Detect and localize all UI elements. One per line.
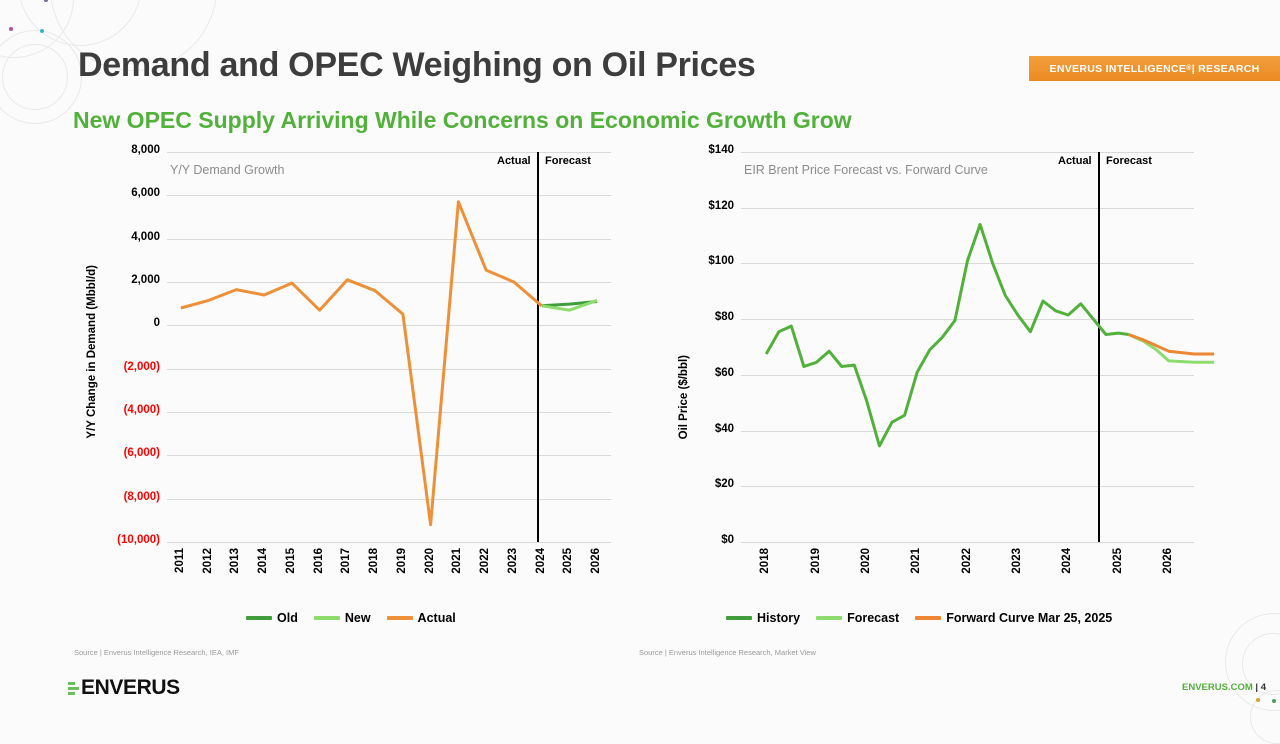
source-note-right: Source | Enverus Intelligence Research, … — [639, 648, 816, 657]
logo-mark-icon — [68, 682, 79, 695]
legend-label: History — [757, 611, 800, 625]
series-line-forward-curve-mar-25-2025 — [1129, 335, 1215, 355]
series-line-history — [766, 224, 1128, 446]
enverus-logo: ENVERUS — [68, 676, 180, 700]
legend-swatch-icon — [915, 616, 941, 620]
legend-item[interactable]: Forward Curve Mar 25, 2025 — [915, 611, 1112, 625]
legend-label: Forecast — [847, 611, 899, 625]
slide: Demand and OPEC Weighing on Oil Prices N… — [0, 0, 1280, 720]
page-number: 4 — [1261, 682, 1266, 693]
legend-label: Forward Curve Mar 25, 2025 — [946, 611, 1112, 625]
footer-meta: ENVERUS.COM | 4 — [1182, 682, 1266, 693]
chart-brent-price: $140$120$100$80$60$40$20$0Oil Price ($/b… — [0, 0, 1280, 720]
legend-swatch-icon — [726, 616, 752, 620]
legend-item[interactable]: History — [726, 611, 800, 625]
footer-separator: | — [1255, 682, 1258, 693]
chart-legend: HistoryForecastForward Curve Mar 25, 202… — [726, 611, 1112, 625]
logo-text: ENVERUS — [81, 676, 180, 700]
legend-swatch-icon — [816, 616, 842, 620]
source-note-left: Source | Enverus Intelligence Research, … — [74, 648, 239, 657]
legend-item[interactable]: Forecast — [816, 611, 899, 625]
footer-website[interactable]: ENVERUS.COM — [1182, 682, 1253, 693]
